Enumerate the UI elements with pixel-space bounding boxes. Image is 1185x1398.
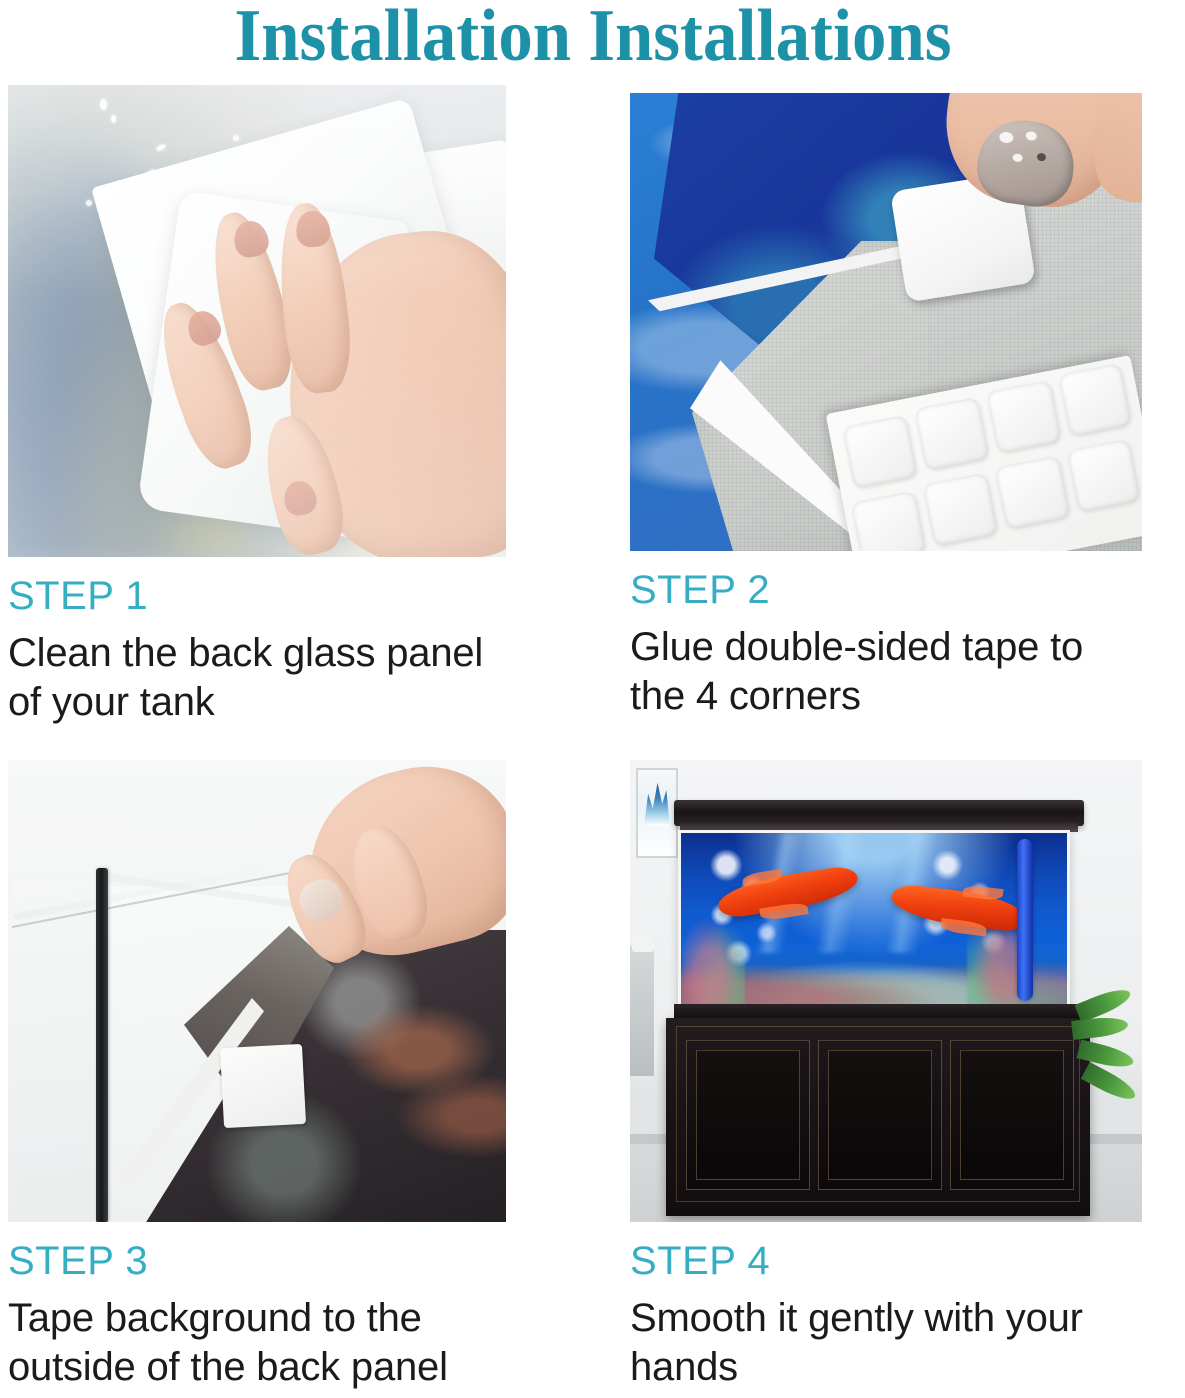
nail-glitter <box>1012 153 1023 162</box>
tape-pad <box>986 380 1061 453</box>
cabinet-door-3[interactable] <box>950 1040 1074 1190</box>
step-4-photo <box>630 760 1142 1222</box>
step-card-2: STEP 2 Glue double-sided tape to the 4 c… <box>630 93 1142 721</box>
aquarium-cabinet-stand <box>666 1018 1090 1216</box>
page-header: Installation Installations <box>0 0 1185 88</box>
step-card-4: STEP 4 Smooth it gently with your hands <box>630 760 1142 1392</box>
step-4-description: Smooth it gently with your hands <box>630 1294 1142 1392</box>
step-1-label: STEP 1 <box>8 571 506 621</box>
tape-pad <box>995 456 1070 529</box>
side-lamp <box>632 936 654 952</box>
cabinet-door-1[interactable] <box>686 1040 810 1190</box>
step-3-photo <box>8 760 506 1222</box>
plant-leaf <box>1081 1062 1139 1105</box>
tape-pad <box>842 415 917 488</box>
water-droplet <box>111 115 116 123</box>
tape-pad <box>1067 439 1140 512</box>
page-title: Installation Installations <box>234 0 951 78</box>
plant-leaf <box>1077 1040 1136 1072</box>
water-droplet <box>86 200 92 206</box>
step-2-description: Glue double-sided tape to the 4 corners <box>630 623 1142 721</box>
water-droplet <box>100 99 107 110</box>
step-1-description: Clean the back glass panel of your tank <box>8 629 506 727</box>
nail-glitter <box>999 131 1014 144</box>
step-2-photo <box>630 93 1142 551</box>
tape-pad <box>923 473 998 546</box>
tank-black-corner-trim <box>96 868 108 1222</box>
step-3-description: Tape background to the outside of the ba… <box>8 1294 506 1392</box>
cabinet-door-2[interactable] <box>818 1040 942 1190</box>
step-4-label: STEP 4 <box>630 1236 1142 1286</box>
cabinet-door-panel <box>696 1050 800 1180</box>
tape-pad <box>1058 363 1131 436</box>
step-card-1: STEP 1 Clean the back glass panel of you… <box>8 85 506 727</box>
tank-left-glass-panel <box>12 882 98 1222</box>
steps-grid: STEP 1 Clean the back glass panel of you… <box>0 0 1185 1398</box>
coral-left <box>683 909 745 1005</box>
side-furniture <box>630 946 654 1076</box>
step-card-3: STEP 3 Tape background to the outside of… <box>8 760 506 1392</box>
white-adhesive-square <box>220 1044 306 1128</box>
step-3-label: STEP 3 <box>8 1236 506 1286</box>
nail-dot <box>1036 153 1046 162</box>
step-1-photo <box>8 85 506 557</box>
aquarium-tank <box>678 830 1070 1008</box>
picture-artwork <box>644 780 670 826</box>
tape-pad <box>914 397 989 470</box>
house-plant <box>1068 988 1142 1138</box>
blue-filter-tube <box>1017 839 1033 1001</box>
cabinet-door-panel <box>960 1050 1064 1180</box>
water-droplet <box>233 135 239 141</box>
step-2-label: STEP 2 <box>630 565 1142 615</box>
cabinet-door-panel <box>828 1050 932 1180</box>
tape-pad <box>851 491 926 551</box>
framed-wall-picture <box>636 768 678 858</box>
nail-glitter <box>1025 131 1037 141</box>
